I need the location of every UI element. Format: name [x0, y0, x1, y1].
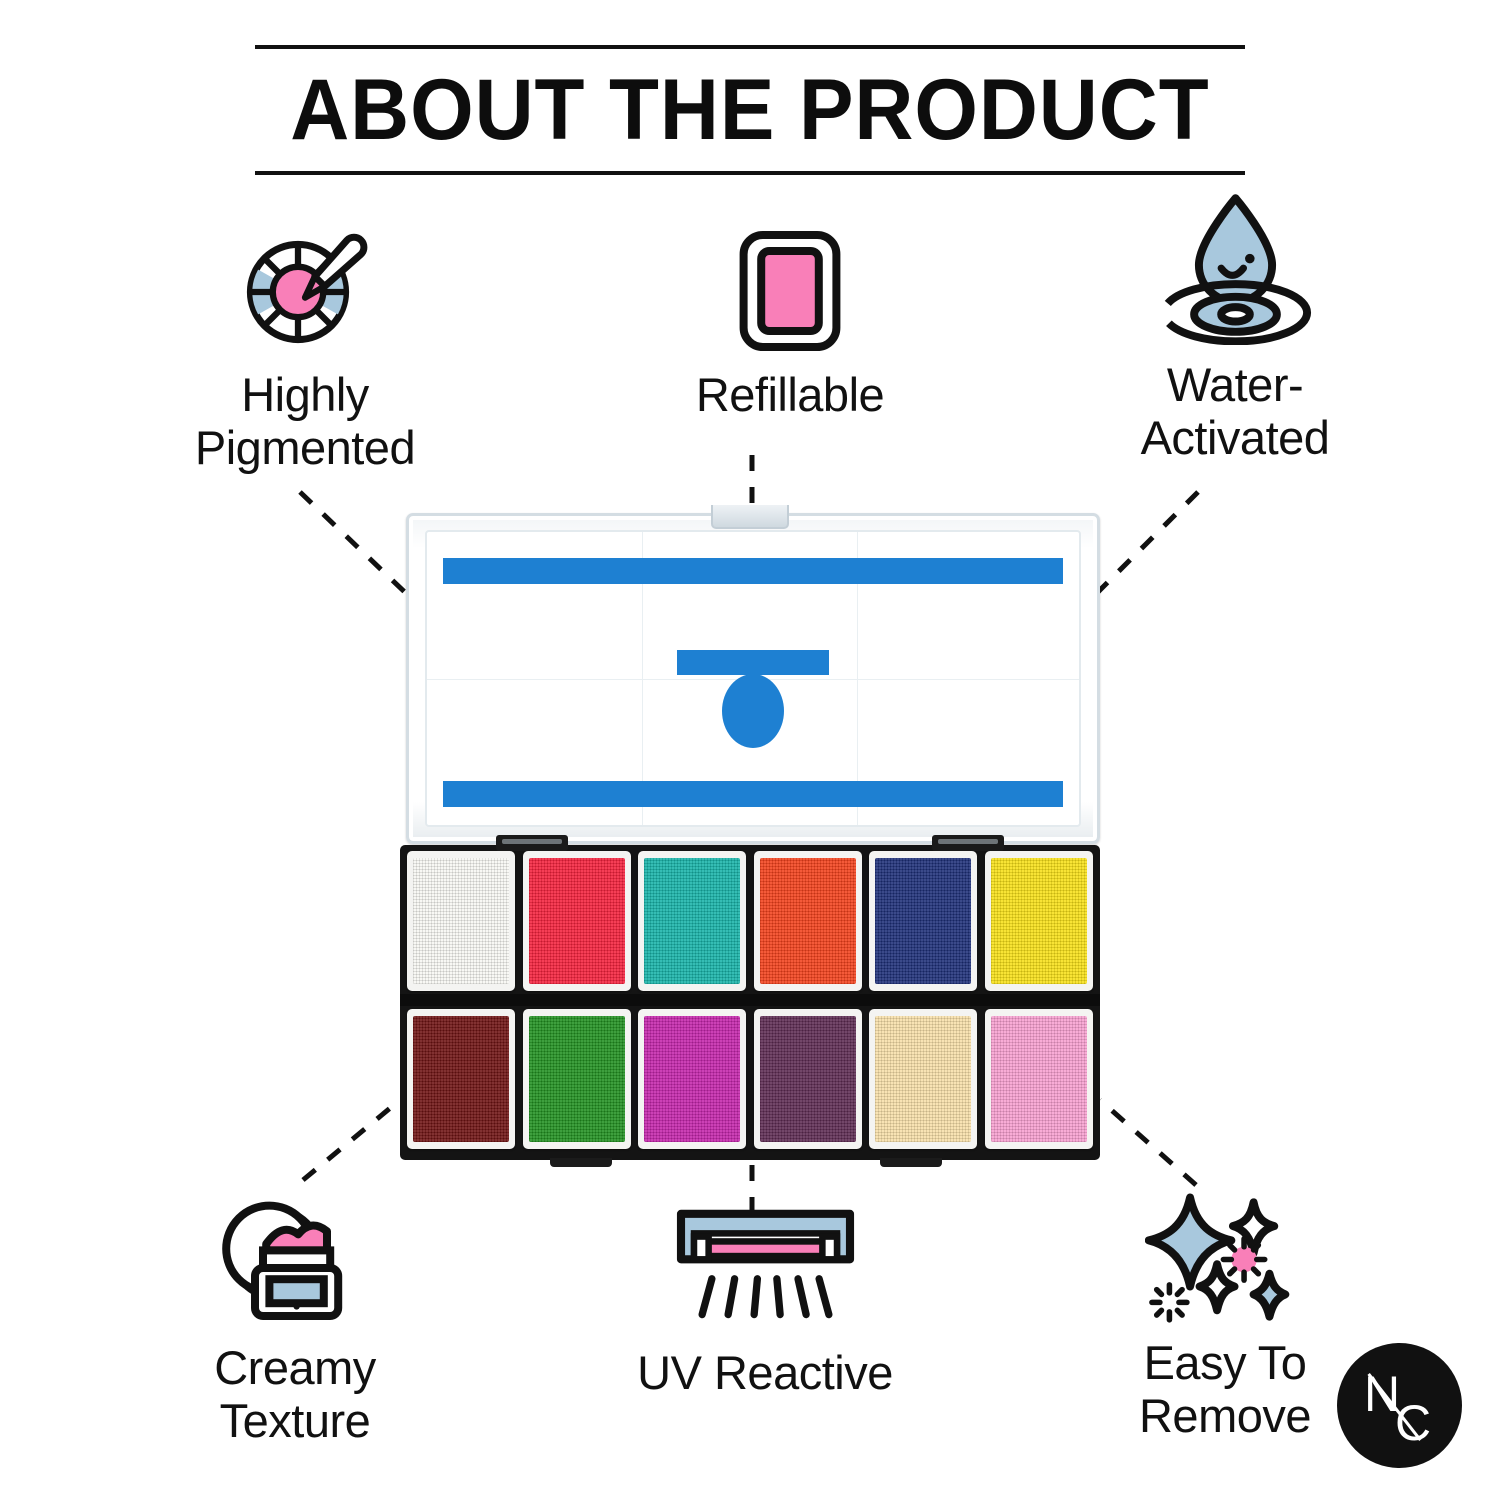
- feature-creamy-texture: Creamy Texture: [130, 1190, 460, 1447]
- case-foot: [550, 1158, 612, 1167]
- icon-wrap-refillable: [625, 205, 955, 355]
- hinge-right: [932, 835, 1004, 851]
- connector-water-activated: [1090, 492, 1198, 600]
- pan-color-yellow: [991, 858, 1087, 984]
- page-title: ABOUT THE PRODUCT: [255, 67, 1245, 153]
- feature-label-highly-pigmented: Highly Pigmented: [140, 369, 470, 474]
- pan-pink[interactable]: [985, 1009, 1093, 1149]
- product-infographic: ABOUT THE PRODUCT: [0, 0, 1500, 1500]
- header-rule-top: [255, 45, 1245, 49]
- pan-color-maroon: [413, 1016, 509, 1142]
- cream-jar-icon: [215, 1196, 375, 1324]
- icon-wrap-easy-to-remove: [1060, 1185, 1390, 1325]
- pan-color-white: [413, 858, 509, 984]
- pan-row-top: [407, 851, 1093, 991]
- feature-label-water-activated: Water- Activated: [1070, 359, 1400, 464]
- icon-wrap-highly-pigmented: [140, 205, 470, 355]
- pan-orange[interactable]: [754, 851, 862, 991]
- face-paint-palette: [400, 505, 1100, 1160]
- brand-logo: N C: [1337, 1343, 1462, 1468]
- lid-center-dot: [722, 674, 784, 748]
- pan-color-plum: [760, 1016, 856, 1142]
- feature-label-refillable: Refillable: [625, 369, 955, 422]
- color-palette-brush-icon: [235, 215, 375, 355]
- feature-water-activated: Water- Activated: [1070, 195, 1400, 464]
- palette-base: [400, 845, 1100, 1160]
- case-foot: [880, 1158, 942, 1167]
- connector-easy-to-remove: [1100, 1100, 1196, 1185]
- pan-color-red: [529, 858, 625, 984]
- header-rule-bottom: [255, 171, 1245, 175]
- pan-navy[interactable]: [869, 851, 977, 991]
- pan-color-navy: [875, 858, 971, 984]
- pan-color-orange: [760, 858, 856, 984]
- lid-band-bottom: [443, 781, 1063, 807]
- water-drop-ripple-icon: [1148, 185, 1323, 345]
- pan-color-pink: [991, 1016, 1087, 1142]
- base-row-divider: [400, 994, 1100, 1006]
- lid-center-bar: [677, 650, 829, 675]
- feature-highly-pigmented: Highly Pigmented: [140, 205, 470, 474]
- brand-letter-c: C: [1395, 1398, 1431, 1448]
- pan-color-magenta: [644, 1016, 740, 1142]
- refill-pan-icon: [734, 227, 846, 355]
- pan-row-bottom: [407, 1009, 1093, 1149]
- pan-color-teal: [644, 858, 740, 984]
- header: ABOUT THE PRODUCT: [255, 45, 1245, 175]
- uv-lamp-icon: [668, 1204, 863, 1326]
- sparkles-icon: [1145, 1188, 1305, 1323]
- icon-wrap-uv-reactive: [600, 1195, 930, 1335]
- pan-maroon[interactable]: [407, 1009, 515, 1149]
- pan-magenta[interactable]: [638, 1009, 746, 1149]
- icon-wrap-creamy-texture: [130, 1190, 460, 1330]
- pan-white[interactable]: [407, 851, 515, 991]
- icon-wrap-water-activated: [1070, 195, 1400, 345]
- pan-cream[interactable]: [869, 1009, 977, 1149]
- lid-inner-panel: [425, 530, 1081, 827]
- feature-refillable: Refillable: [625, 205, 955, 422]
- feature-label-creamy-texture: Creamy Texture: [130, 1342, 460, 1447]
- pan-green[interactable]: [523, 1009, 631, 1149]
- pan-red[interactable]: [523, 851, 631, 991]
- lid-clasp[interactable]: [711, 505, 789, 529]
- feature-label-uv-reactive: UV Reactive: [600, 1347, 930, 1400]
- page-title-text: ABOUT THE PRODUCT: [290, 67, 1209, 153]
- connector-creamy-texture: [303, 1100, 400, 1180]
- connector-highly-pigmented: [300, 492, 413, 600]
- lid-band-top: [443, 558, 1063, 584]
- feature-uv-reactive: UV Reactive: [600, 1195, 930, 1400]
- pan-color-cream: [875, 1016, 971, 1142]
- pan-plum[interactable]: [754, 1009, 862, 1149]
- pan-color-green: [529, 1016, 625, 1142]
- hinge-left: [496, 835, 568, 851]
- pan-yellow[interactable]: [985, 851, 1093, 991]
- palette-lid[interactable]: [406, 513, 1100, 844]
- pan-teal[interactable]: [638, 851, 746, 991]
